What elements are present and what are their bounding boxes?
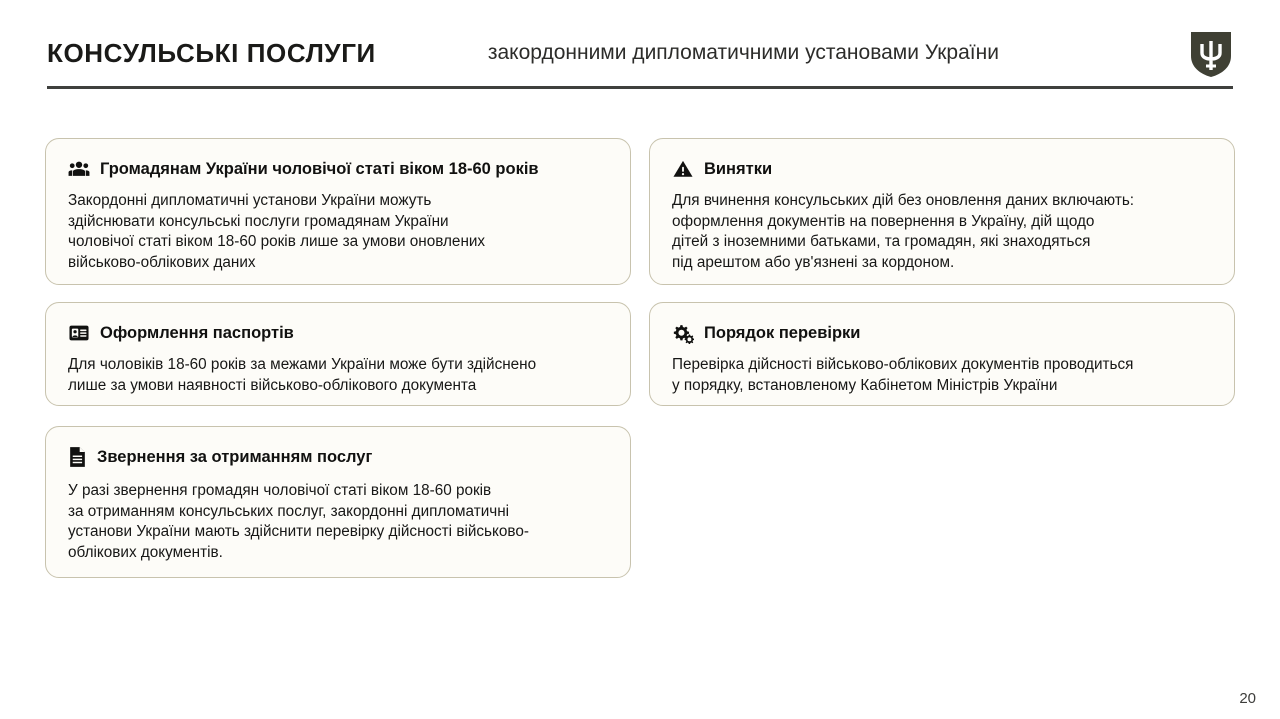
page-number: 20 — [1239, 690, 1256, 707]
card-title: Винятки — [704, 158, 772, 180]
card-body: Перевірка дійсності військово-облікових … — [672, 355, 1212, 396]
slide-header: КОНСУЛЬСЬКІ ПОСЛУГИ закордонними диплома… — [0, 0, 1280, 92]
header-row: КОНСУЛЬСЬКІ ПОСЛУГИ закордонними диплома… — [47, 30, 1233, 76]
page-title: КОНСУЛЬСЬКІ ПОСЛУГИ — [47, 38, 376, 69]
id-card-icon — [68, 322, 90, 344]
card-exceptions: Винятки Для вчинення консульських дій бе… — [649, 138, 1235, 285]
card-verification-procedure: Порядок перевірки Перевірка дійсності ві… — [649, 302, 1235, 406]
card-title: Порядок перевірки — [704, 322, 860, 344]
card-title: Звернення за отриманням послуг — [97, 446, 372, 468]
card-body: У разі звернення громадян чоловічої стат… — [68, 481, 608, 563]
ukraine-trident-shield-icon — [1189, 30, 1233, 76]
card-body: Для вчинення консульських дій без оновле… — [672, 191, 1212, 273]
header-divider — [47, 86, 1233, 89]
card-header: Порядок перевірки — [672, 321, 1212, 345]
card-title: Оформлення паспортів — [100, 322, 294, 344]
card-header: Оформлення паспортів — [68, 321, 608, 345]
card-service-request: Звернення за отриманням послуг У разі зв… — [45, 426, 631, 578]
users-group-icon — [68, 158, 90, 180]
card-passport-issuance: Оформлення паспортів Для чоловіків 18-60… — [45, 302, 631, 406]
document-icon — [68, 446, 87, 468]
card-title: Громадянам України чоловічої статі віком… — [100, 158, 539, 180]
warning-triangle-icon — [672, 158, 694, 180]
cards-board: Громадянам України чоловічої статі віком… — [45, 138, 1235, 598]
card-body: Закордонні дипломатичні установи України… — [68, 191, 608, 273]
card-header: Звернення за отриманням послуг — [68, 445, 608, 469]
gears-icon — [672, 322, 694, 344]
card-citizens-18-60: Громадянам України чоловічої статі віком… — [45, 138, 631, 285]
page-subtitle: закордонними дипломатичними установами У… — [376, 41, 1189, 65]
card-header: Винятки — [672, 157, 1212, 181]
card-body: Для чоловіків 18-60 років за межами Укра… — [68, 355, 608, 396]
card-header: Громадянам України чоловічої статі віком… — [68, 157, 608, 181]
